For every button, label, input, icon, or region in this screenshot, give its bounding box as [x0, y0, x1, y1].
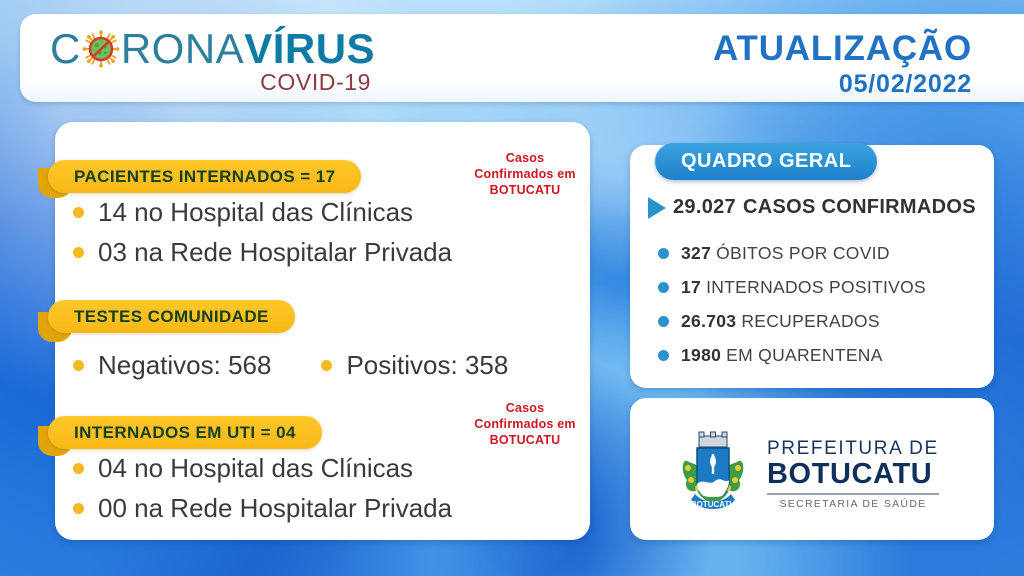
logo-word-virus: VÍRUS: [244, 26, 375, 72]
list-item: 04 no Hospital das Clínicas: [73, 448, 452, 488]
stat-headline-value: 29.027: [673, 196, 736, 219]
prefeitura-wordmark: PREFEITURA DE BOTUCATU SECRETARIA DE SAÚ…: [767, 438, 939, 510]
update-title: ATUALIZAÇÃO: [713, 30, 972, 68]
note-line-1: Casos: [455, 150, 595, 166]
bullet-dot-icon: [658, 248, 669, 259]
logo-word-rona: RONA: [121, 26, 244, 72]
note-line-2: Confirmados em: [455, 166, 595, 182]
quadro-geral-badge: QUADRO GERAL: [655, 143, 877, 180]
stat-value: 327: [681, 236, 711, 270]
note-line-3: BOTUCATU: [455, 182, 595, 198]
bullet-dot-icon: [73, 247, 84, 258]
bullet-dot-icon: [73, 503, 84, 514]
section-badge-internados-uti: INTERNADOS EM UTI = 04: [48, 416, 322, 449]
bullet-dot-icon: [321, 360, 332, 371]
list-item-label: 04 no Hospital das Clínicas: [98, 448, 413, 488]
list-item-label: 14 no Hospital das Clínicas: [98, 192, 413, 232]
divider: [767, 493, 939, 495]
note-line-3: BOTUCATU: [455, 432, 595, 448]
list-item-label: 03 na Rede Hospitalar Privada: [98, 232, 452, 272]
note-casos-confirmados-1: Casos Confirmados em BOTUCATU: [455, 150, 595, 198]
prefeitura-line-3: SECRETARIA DE SAÚDE: [767, 498, 939, 510]
note-line-1: Casos: [455, 400, 595, 416]
section-badge-pacientes-internados: PACIENTES INTERNADOS = 17: [48, 160, 361, 193]
bullet-list-internados: 14 no Hospital das Clínicas 03 na Rede H…: [73, 192, 452, 272]
stat-label: EM QUARENTENA: [726, 338, 883, 372]
section-badge-testes-comunidade: TESTES COMUNIDADE: [48, 300, 295, 333]
list-item-label: Positivos: 358: [346, 345, 508, 385]
bullet-dot-icon: [73, 207, 84, 218]
prefeitura-logo: BOTUCATU PREFEITURA DE BOTUCATU SECRETAR…: [675, 428, 939, 519]
stat-row: 17 INTERNADOS POSITIVOS: [658, 270, 926, 304]
stat-row: 1980 EM QUARENTENA: [658, 338, 926, 372]
stat-headline: 29.027 CASOS CONFIRMADOS: [648, 196, 976, 219]
logo-subtitle: COVID-19: [50, 69, 375, 96]
note-casos-confirmados-2: Casos Confirmados em BOTUCATU: [455, 400, 595, 448]
coronavirus-blocked-icon: [82, 30, 120, 68]
botucatu-coat-of-arms-icon: BOTUCATU: [675, 428, 751, 519]
stat-label: INTERNADOS POSITIVOS: [706, 270, 926, 304]
bullet-dot-icon: [73, 463, 84, 474]
bullet-dot-icon: [73, 360, 84, 371]
bullet-dot-icon: [658, 350, 669, 361]
stat-label: RECUPERADOS: [741, 304, 879, 338]
update-date: 05/02/2022: [713, 70, 972, 98]
list-item: Negativos: 568 Positivos: 358: [73, 345, 508, 385]
logo-word-c: C: [50, 26, 81, 72]
stat-row: 327 ÓBITOS POR COVID: [658, 236, 926, 270]
stat-label: ÓBITOS POR COVID: [716, 236, 890, 270]
prefeitura-line-2: BOTUCATU: [767, 459, 939, 490]
list-item: 03 na Rede Hospitalar Privada: [73, 232, 452, 272]
list-item: 14 no Hospital das Clínicas: [73, 192, 452, 232]
arrow-right-icon: [648, 197, 666, 219]
bullet-dot-icon: [658, 316, 669, 327]
logo-wordmark: C: [50, 26, 375, 72]
bullet-list-testes: Negativos: 568 Positivos: 358: [73, 345, 508, 385]
prefeitura-line-1: PREFEITURA DE: [767, 438, 939, 459]
stat-list: 327 ÓBITOS POR COVID 17 INTERNADOS POSIT…: [658, 236, 926, 372]
stat-value: 17: [681, 270, 701, 304]
stat-row: 26.703 RECUPERADOS: [658, 304, 926, 338]
coronavirus-logo: C: [50, 26, 375, 96]
update-block: ATUALIZAÇÃO 05/02/2022: [713, 30, 972, 98]
stat-value: 26.703: [681, 304, 736, 338]
list-item-label: 00 na Rede Hospitalar Privada: [98, 488, 452, 528]
list-item: 00 na Rede Hospitalar Privada: [73, 488, 452, 528]
infographic-page: C: [0, 0, 1024, 576]
note-line-2: Confirmados em: [455, 416, 595, 432]
crest-ribbon-label: BOTUCATU: [691, 500, 736, 509]
stat-value: 1980: [681, 338, 721, 372]
header-bar: C: [20, 14, 1024, 102]
bullet-dot-icon: [658, 282, 669, 293]
list-item-label: Negativos: 568: [98, 345, 271, 385]
bullet-list-uti: 04 no Hospital das Clínicas 00 na Rede H…: [73, 448, 452, 528]
stat-headline-label: CASOS CONFIRMADOS: [743, 196, 976, 219]
